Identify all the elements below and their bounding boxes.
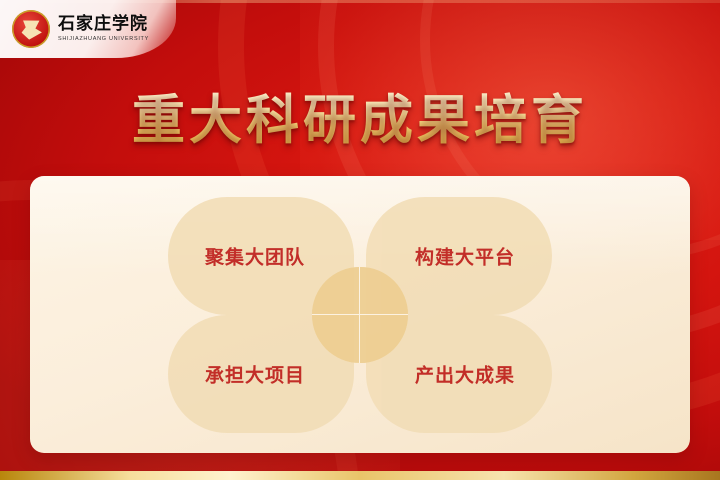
diagram-panel: 聚集大团队 构建大平台 承担大项目 产出大成果 [30, 176, 690, 453]
bottom-gold-bar [0, 471, 720, 480]
page-title: 重大科研成果培育 [0, 78, 720, 154]
slide-root: 石家庄学院 SHIJIAZHUANG UNIVERSITY 重大科研成果培育 聚… [0, 0, 720, 480]
logo-name-cn: 石家庄学院 [58, 16, 149, 34]
petal-bottom-right-label: 产出大成果 [372, 360, 558, 387]
university-emblem-icon [12, 10, 50, 48]
petal-bottom-left-label: 承担大项目 [162, 360, 348, 387]
petal-diagram: 聚集大团队 构建大平台 承担大项目 产出大成果 [160, 189, 560, 441]
logo-plate: 石家庄学院 SHIJIAZHUANG UNIVERSITY [0, 0, 176, 58]
petal-top-right-label: 构建大平台 [372, 242, 558, 269]
core-circle [312, 267, 408, 363]
logo-name-en: SHIJIAZHUANG UNIVERSITY [58, 36, 149, 42]
petal-top-left-label: 聚集大团队 [162, 242, 348, 269]
logo-text: 石家庄学院 SHIJIAZHUANG UNIVERSITY [58, 16, 149, 43]
